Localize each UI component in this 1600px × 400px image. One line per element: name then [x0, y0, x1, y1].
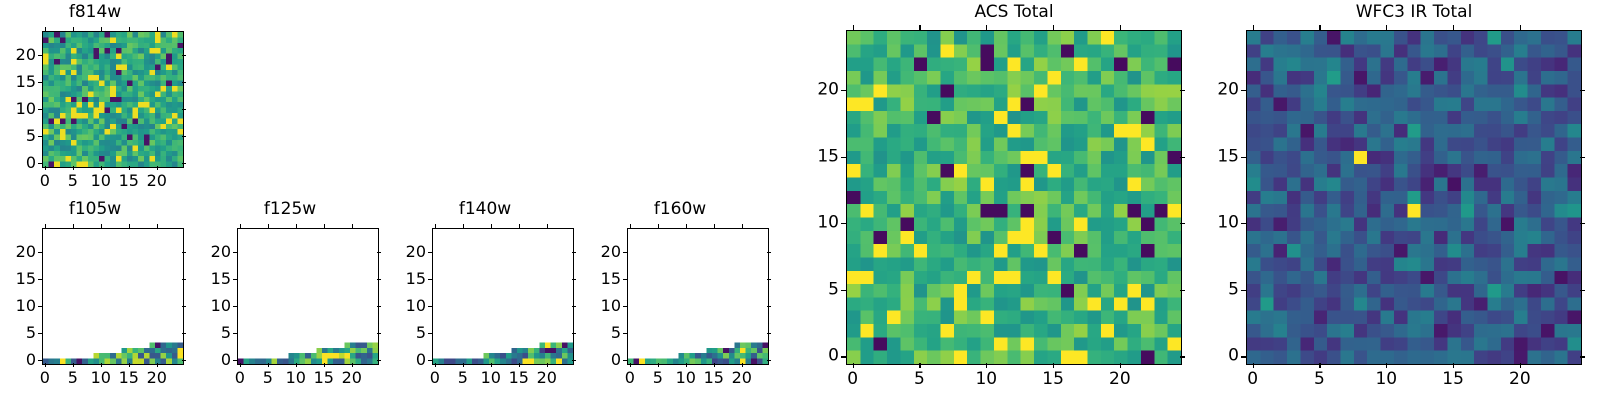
y-tick-label: 5 [579, 325, 621, 341]
y-tick-right [182, 306, 186, 307]
x-tick-top [324, 224, 325, 228]
x-tick [101, 166, 102, 170]
y-tick-right [1580, 157, 1585, 158]
x-tick-label: 15 [704, 370, 724, 386]
x-tick-label: 10 [975, 371, 997, 388]
y-tick-right [182, 360, 186, 361]
panel-title-f105w: f105w [0, 201, 190, 218]
x-tick [73, 166, 74, 170]
y-tick-label: 10 [0, 298, 36, 314]
x-tick [352, 363, 353, 367]
x-tick-label: 5 [458, 370, 468, 386]
y-tick [233, 360, 237, 361]
x-tick [129, 363, 130, 367]
panel-title-f140w: f140w [390, 201, 580, 218]
y-tick-label: 20 [0, 47, 36, 63]
y-tick [38, 82, 42, 83]
x-tick [45, 166, 46, 170]
y-tick [38, 163, 42, 164]
panel-f814w: f814w 0055101015152020 [0, 0, 200, 195]
y-tick-right [767, 306, 771, 307]
y-tick-label: 5 [189, 325, 231, 341]
y-tick-label: 20 [1197, 81, 1239, 98]
x-tick-top [435, 224, 436, 228]
x-tick-label: 5 [914, 371, 925, 388]
x-tick-top [101, 224, 102, 228]
x-tick [157, 363, 158, 367]
x-tick [1319, 363, 1320, 368]
y-tick-right [182, 333, 186, 334]
x-tick-top [742, 224, 743, 228]
x-tick [1520, 363, 1521, 368]
y-tick [1241, 223, 1246, 224]
y-tick [233, 306, 237, 307]
x-tick [101, 363, 102, 367]
heatmap-f140w [432, 228, 574, 365]
x-tick [296, 363, 297, 367]
x-tick-label: 5 [1314, 371, 1325, 388]
y-tick-label: 15 [797, 148, 839, 165]
x-tick-label: 15 [1442, 371, 1464, 388]
x-tick-top [73, 27, 74, 31]
y-tick-right [377, 360, 381, 361]
x-tick-top [1386, 25, 1387, 30]
x-tick [45, 363, 46, 367]
heatmap-f125w [237, 228, 379, 365]
x-tick [1253, 363, 1254, 368]
y-tick-label: 0 [1197, 348, 1239, 365]
y-tick-label: 15 [1197, 148, 1239, 165]
x-tick-top [853, 25, 854, 30]
x-tick [1453, 363, 1454, 368]
y-tick-label: 15 [189, 271, 231, 287]
x-tick [686, 363, 687, 367]
y-tick-right [377, 252, 381, 253]
y-tick-label: 20 [0, 244, 36, 260]
y-tick-label: 10 [579, 298, 621, 314]
panel-title-f160w: f160w [585, 201, 775, 218]
x-tick-label: 15 [1042, 371, 1064, 388]
x-tick [324, 363, 325, 367]
y-tick-right [1580, 290, 1585, 291]
y-tick [841, 356, 846, 357]
y-tick-right [377, 333, 381, 334]
y-tick [841, 90, 846, 91]
x-tick-top [1520, 25, 1521, 30]
y-tick-label: 15 [579, 271, 621, 287]
x-tick-top [1453, 25, 1454, 30]
x-tick-label: 20 [1109, 371, 1131, 388]
x-tick [547, 363, 548, 367]
y-tick-right [572, 360, 576, 361]
panel-title-acs-total: ACS Total [846, 4, 1182, 21]
y-tick [623, 279, 627, 280]
x-tick-label: 5 [68, 370, 78, 386]
x-tick-label: 15 [314, 370, 334, 386]
x-tick [268, 363, 269, 367]
y-tick [623, 360, 627, 361]
y-tick-right [767, 333, 771, 334]
x-tick-label: 15 [119, 173, 139, 189]
heatmap-f160w [627, 228, 769, 365]
x-tick-label: 15 [119, 370, 139, 386]
heatmap-canvas-wfc3-ir-total [1247, 31, 1581, 364]
x-tick [129, 166, 130, 170]
y-tick [1241, 90, 1246, 91]
x-tick-top [547, 224, 548, 228]
y-tick-label: 0 [189, 352, 231, 368]
y-tick [233, 333, 237, 334]
x-tick-top [129, 27, 130, 31]
x-tick-label: 10 [91, 370, 111, 386]
x-tick-top [491, 224, 492, 228]
heatmap-f814w [42, 31, 184, 168]
y-tick-label: 10 [0, 101, 36, 117]
panel-wfc3-ir-total: WFC3 IR Total 0055101015152020 [1190, 0, 1600, 400]
y-tick-right [572, 333, 576, 334]
y-tick [841, 157, 846, 158]
y-tick-label: 10 [797, 215, 839, 232]
y-tick [233, 252, 237, 253]
x-tick [435, 363, 436, 367]
y-tick-label: 10 [384, 298, 426, 314]
x-tick-label: 20 [1509, 371, 1531, 388]
y-tick [841, 223, 846, 224]
y-tick-label: 5 [797, 281, 839, 298]
y-tick-right [1180, 90, 1185, 91]
y-tick-right [182, 279, 186, 280]
y-tick [1241, 157, 1246, 158]
y-tick-right [182, 109, 186, 110]
x-tick-label: 10 [286, 370, 306, 386]
y-tick-label: 0 [579, 352, 621, 368]
x-tick [986, 363, 987, 368]
x-tick-top [352, 224, 353, 228]
heatmap-canvas-f140w [433, 229, 573, 364]
y-tick [623, 252, 627, 253]
y-tick-right [1580, 90, 1585, 91]
y-tick [38, 252, 42, 253]
x-tick-label: 20 [342, 370, 362, 386]
y-tick [38, 360, 42, 361]
x-tick-label: 5 [653, 370, 663, 386]
x-tick-label: 0 [1247, 371, 1258, 388]
heatmap-canvas-f160w [628, 229, 768, 364]
panel-f140w: f140w 0055101015152020 [390, 195, 590, 400]
x-tick-top [157, 27, 158, 31]
x-tick-top [296, 224, 297, 228]
y-tick [428, 360, 432, 361]
x-tick-top [519, 224, 520, 228]
x-tick-top [157, 224, 158, 228]
y-tick-label: 5 [1197, 281, 1239, 298]
x-tick [463, 363, 464, 367]
x-tick [1386, 363, 1387, 368]
x-tick [853, 363, 854, 368]
x-tick-label: 10 [676, 370, 696, 386]
x-tick-label: 0 [40, 173, 50, 189]
y-tick-right [1180, 290, 1185, 291]
x-tick-top [240, 224, 241, 228]
y-tick-right [1180, 157, 1185, 158]
x-tick-top [1319, 25, 1320, 30]
heatmap-f105w [42, 228, 184, 365]
x-tick [658, 363, 659, 367]
x-tick [491, 363, 492, 367]
x-tick-top [45, 224, 46, 228]
x-tick-label: 20 [147, 370, 167, 386]
panel-title-wfc3-ir-total: WFC3 IR Total [1246, 4, 1582, 21]
y-tick-label: 20 [579, 244, 621, 260]
x-tick-label: 5 [68, 173, 78, 189]
y-tick [428, 279, 432, 280]
x-tick-label: 20 [147, 173, 167, 189]
y-tick-label: 0 [0, 352, 36, 368]
y-tick [38, 306, 42, 307]
x-tick-label: 10 [481, 370, 501, 386]
x-tick-top [919, 25, 920, 30]
x-tick-label: 0 [847, 371, 858, 388]
panel-title-f814w: f814w [0, 4, 190, 21]
x-tick-top [73, 224, 74, 228]
x-tick-top [129, 224, 130, 228]
panel-title-f125w: f125w [195, 201, 385, 218]
y-tick [428, 306, 432, 307]
x-tick-top [1253, 25, 1254, 30]
panel-f125w: f125w 0055101015152020 [195, 195, 395, 400]
heatmap-wfc3-ir-total [1246, 30, 1582, 365]
y-tick [38, 109, 42, 110]
x-tick-top [1053, 25, 1054, 30]
x-tick-label: 10 [1375, 371, 1397, 388]
y-tick-right [182, 136, 186, 137]
x-tick-top [463, 224, 464, 228]
heatmap-canvas-f125w [238, 229, 378, 364]
y-tick [1241, 290, 1246, 291]
y-tick [38, 55, 42, 56]
y-tick [623, 333, 627, 334]
x-tick [630, 363, 631, 367]
x-tick-label: 0 [625, 370, 635, 386]
x-tick [240, 363, 241, 367]
heatmap-canvas-acs-total [847, 31, 1181, 364]
x-tick-label: 0 [430, 370, 440, 386]
heatmap-acs-total [846, 30, 1182, 365]
x-tick-top [658, 224, 659, 228]
x-tick [714, 363, 715, 367]
x-tick-label: 5 [263, 370, 273, 386]
x-tick-label: 0 [235, 370, 245, 386]
y-tick-right [572, 279, 576, 280]
x-tick-top [268, 224, 269, 228]
y-tick-label: 0 [797, 348, 839, 365]
x-tick-label: 15 [509, 370, 529, 386]
x-tick [1120, 363, 1121, 368]
y-tick [38, 279, 42, 280]
x-tick-label: 0 [40, 370, 50, 386]
y-tick-label: 15 [384, 271, 426, 287]
y-tick [841, 290, 846, 291]
x-tick-label: 20 [537, 370, 557, 386]
y-tick-right [182, 252, 186, 253]
y-tick-label: 10 [189, 298, 231, 314]
y-tick-label: 20 [797, 81, 839, 98]
heatmap-canvas-f814w [43, 32, 183, 167]
x-tick [919, 363, 920, 368]
y-tick [38, 136, 42, 137]
y-tick-label: 0 [384, 352, 426, 368]
x-tick [1053, 363, 1054, 368]
y-tick-label: 20 [189, 244, 231, 260]
x-tick-top [686, 224, 687, 228]
y-tick-label: 0 [0, 155, 36, 171]
y-tick [428, 252, 432, 253]
y-tick [428, 333, 432, 334]
y-tick-right [182, 55, 186, 56]
y-tick-right [1580, 223, 1585, 224]
y-tick-label: 15 [0, 271, 36, 287]
x-tick-top [714, 224, 715, 228]
x-tick [742, 363, 743, 367]
panel-f160w: f160w 0055101015152020 [585, 195, 785, 400]
y-tick-right [1180, 356, 1185, 357]
y-tick-label: 10 [1197, 215, 1239, 232]
y-tick-right [572, 252, 576, 253]
x-tick-top [630, 224, 631, 228]
panel-acs-total: ACS Total 0055101015152020 [790, 0, 1190, 400]
y-tick-label: 20 [384, 244, 426, 260]
x-tick-top [1120, 25, 1121, 30]
x-tick [73, 363, 74, 367]
x-tick [157, 166, 158, 170]
y-tick [233, 279, 237, 280]
x-tick-top [101, 27, 102, 31]
y-tick-right [572, 306, 576, 307]
y-tick-label: 15 [0, 74, 36, 90]
x-tick-top [986, 25, 987, 30]
y-tick-right [767, 360, 771, 361]
x-tick-label: 20 [732, 370, 752, 386]
heatmap-canvas-f105w [43, 229, 183, 364]
x-tick [519, 363, 520, 367]
y-tick [38, 333, 42, 334]
y-tick-label: 5 [0, 128, 36, 144]
y-tick-right [377, 306, 381, 307]
y-tick-right [767, 279, 771, 280]
panel-f105w: f105w 0055101015152020 [0, 195, 200, 400]
x-tick-label: 10 [91, 173, 111, 189]
y-tick [623, 306, 627, 307]
y-tick-right [767, 252, 771, 253]
y-tick-label: 5 [0, 325, 36, 341]
y-tick-right [1180, 223, 1185, 224]
x-tick-top [45, 27, 46, 31]
y-tick-right [182, 82, 186, 83]
y-tick-right [1580, 356, 1585, 357]
y-tick [1241, 356, 1246, 357]
y-tick-label: 5 [384, 325, 426, 341]
y-tick-right [182, 163, 186, 164]
y-tick-right [377, 279, 381, 280]
